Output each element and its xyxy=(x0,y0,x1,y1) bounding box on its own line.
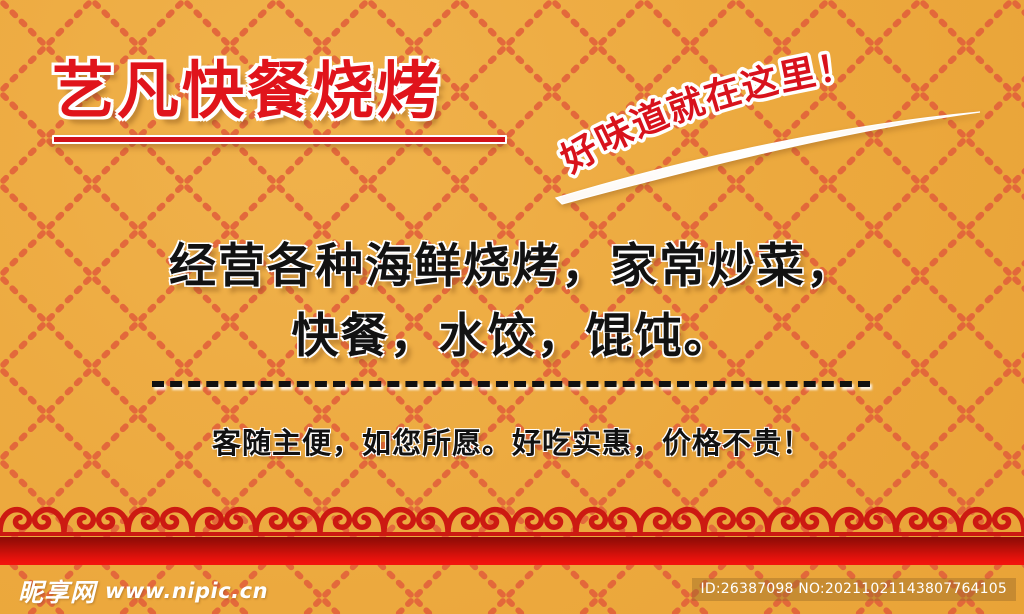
footer-watermark-area: 昵享网 www.nipic.cn ID:26387098 NO:20211021… xyxy=(0,565,1024,614)
tagline-text: 客随主便，如您所愿。好吃实惠，价格不贵！ xyxy=(0,420,1024,462)
business-description: 经营各种海鲜烧烤，家常炒菜， 快餐，水饺，馄饨。 xyxy=(0,232,1024,372)
business-line-2: 快餐，水饺，馄饨。 xyxy=(0,302,1024,372)
title-underline-rule xyxy=(52,135,507,144)
business-line-1: 经营各种海鲜烧烤，家常炒菜， xyxy=(0,232,1024,302)
poster-canvas: 艺凡快餐烧烤 好味道就在这里！ 经营各种海鲜烧烤，家常炒菜， 快餐，水饺，馄饨。 xyxy=(0,0,1024,614)
shop-name-title: 艺凡快餐烧烤 xyxy=(52,58,522,123)
slogan-block: 好味道就在这里！ xyxy=(548,52,988,202)
image-id-label: ID:26387098 NO:20211021143807764105 xyxy=(692,578,1016,601)
watermark-logo-text: 昵享网 xyxy=(18,573,96,609)
dashed-divider xyxy=(152,381,870,387)
site-watermark: 昵享网 www.nipic.cn xyxy=(18,573,268,609)
red-gradient-bar xyxy=(0,537,1024,565)
watermark-url-text: www.nipic.cn xyxy=(105,579,268,603)
scroll-ornament-band xyxy=(0,503,1024,537)
title-block: 艺凡快餐烧烤 xyxy=(52,58,522,144)
